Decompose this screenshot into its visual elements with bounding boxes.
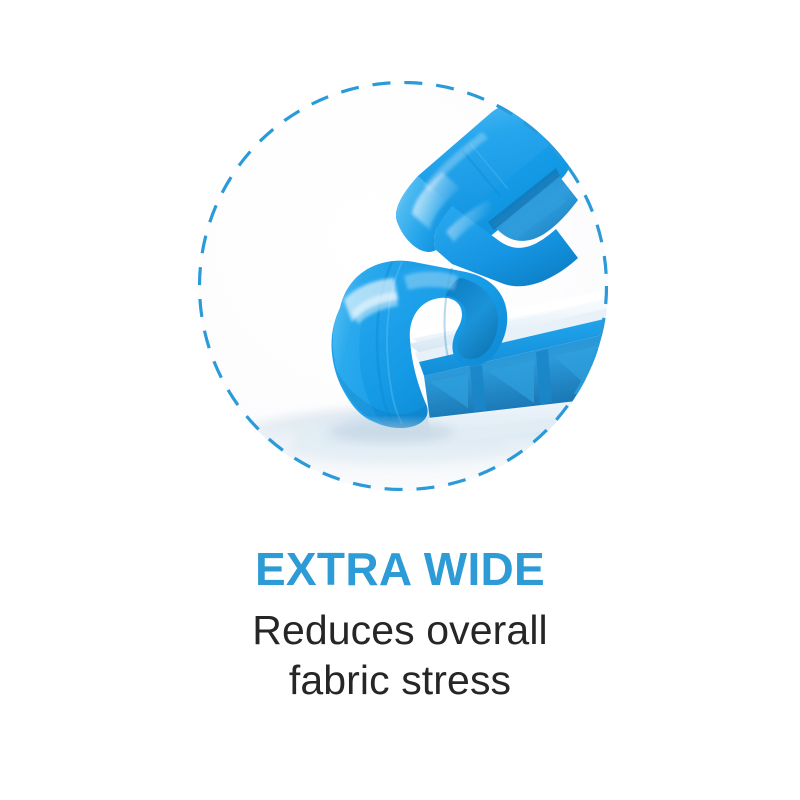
product-illustration	[198, 81, 608, 491]
contact-shadow	[330, 421, 454, 443]
headline: EXTRA WIDE	[0, 543, 800, 595]
feature-card: EXTRA WIDE Reduces overall fabric stress	[0, 0, 800, 800]
upper-clip	[396, 103, 578, 286]
product-photo	[198, 81, 608, 491]
caption-block: EXTRA WIDE Reduces overall fabric stress	[0, 543, 800, 705]
subline-2: fabric stress	[0, 655, 800, 705]
subline-1: Reduces overall	[0, 605, 800, 655]
hero-image-area	[198, 81, 608, 491]
